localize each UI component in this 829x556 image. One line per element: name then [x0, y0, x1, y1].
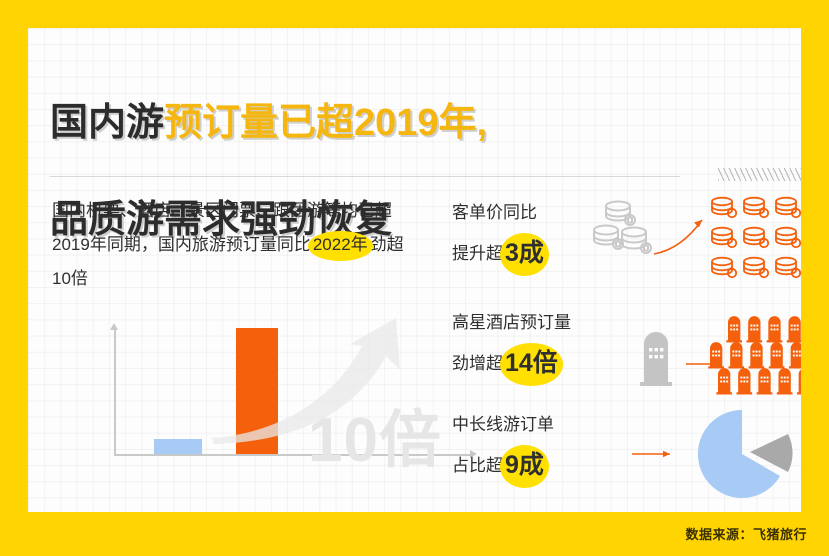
content-panel: 国内游预订量已超2019年, 品质游需求强劲恢复 国内机票、酒店、景区门票、跟团…: [28, 28, 801, 512]
pie-chart-icon: [698, 410, 793, 498]
stat-price-line2: 提升超3成: [452, 229, 592, 278]
stat-hotel-line1: 高星酒店预订量: [452, 306, 592, 339]
hatch-decoration-icon: [718, 168, 801, 181]
stat-hotel-value: 14倍: [503, 339, 560, 388]
coin-stack-grey-icon: [594, 202, 651, 254]
source-footer: 数据来源：飞猪旅行: [685, 524, 807, 543]
curved-arrow-icon: [654, 220, 702, 254]
coin-stack-orange-grid-icon: [712, 198, 800, 278]
stat-hotel-prefix: 劲增超: [452, 354, 503, 373]
chart-bar-2022: [154, 439, 202, 454]
lead-paragraph: 国内机票、酒店、景区门票、跟团游等均已超2019年同期，国内旅游预订量同比202…: [52, 194, 412, 296]
stat-longtrip-value: 9成: [503, 441, 546, 490]
straight-arrow-icon: [632, 451, 670, 457]
infographic-poster: 国内游预订量已超2019年, 品质游需求强劲恢复 国内机票、酒店、景区门票、跟团…: [0, 0, 829, 556]
stat-longtrip-text: 中长线游订单 占比超9成: [452, 408, 592, 490]
stat-price-illustration: [592, 196, 801, 288]
stat-longtrip: 中长线游订单 占比超9成: [452, 408, 801, 500]
title-divider: [50, 176, 680, 177]
lead-highlight: 2022年: [311, 228, 370, 262]
stat-longtrip-illustration: [592, 408, 801, 500]
stat-price-value: 3成: [503, 229, 546, 278]
stat-price-text: 客单价同比 提升超3成: [452, 196, 592, 278]
hotel-building-orange-icon: [708, 316, 801, 394]
title-line1-part1: 国内游: [50, 102, 164, 144]
stat-price-line1: 客单价同比: [452, 196, 592, 229]
stat-longtrip-prefix: 占比超: [452, 456, 503, 475]
stat-longtrip-line1: 中长线游订单: [452, 408, 592, 441]
chart-watermark: 10倍: [308, 410, 442, 472]
chart-y-axis: [114, 328, 116, 456]
hotel-building-grey-icon: [640, 332, 672, 386]
stat-hotel: 高星酒店预订量 劲增超14倍: [452, 306, 801, 398]
stat-price-prefix: 提升超: [452, 244, 503, 263]
stat-hotel-illustration: [592, 306, 801, 398]
chart-y-axis-arrow-icon: [110, 323, 118, 330]
stat-longtrip-line2: 占比超9成: [452, 441, 592, 490]
stat-hotel-line2: 劲增超14倍: [452, 339, 592, 388]
stat-hotel-text: 高星酒店预订量 劲增超14倍: [452, 306, 592, 388]
stat-price: 客单价同比 提升超3成: [452, 196, 801, 292]
title-line1-part2: 预订量已超2019年,: [164, 102, 487, 144]
